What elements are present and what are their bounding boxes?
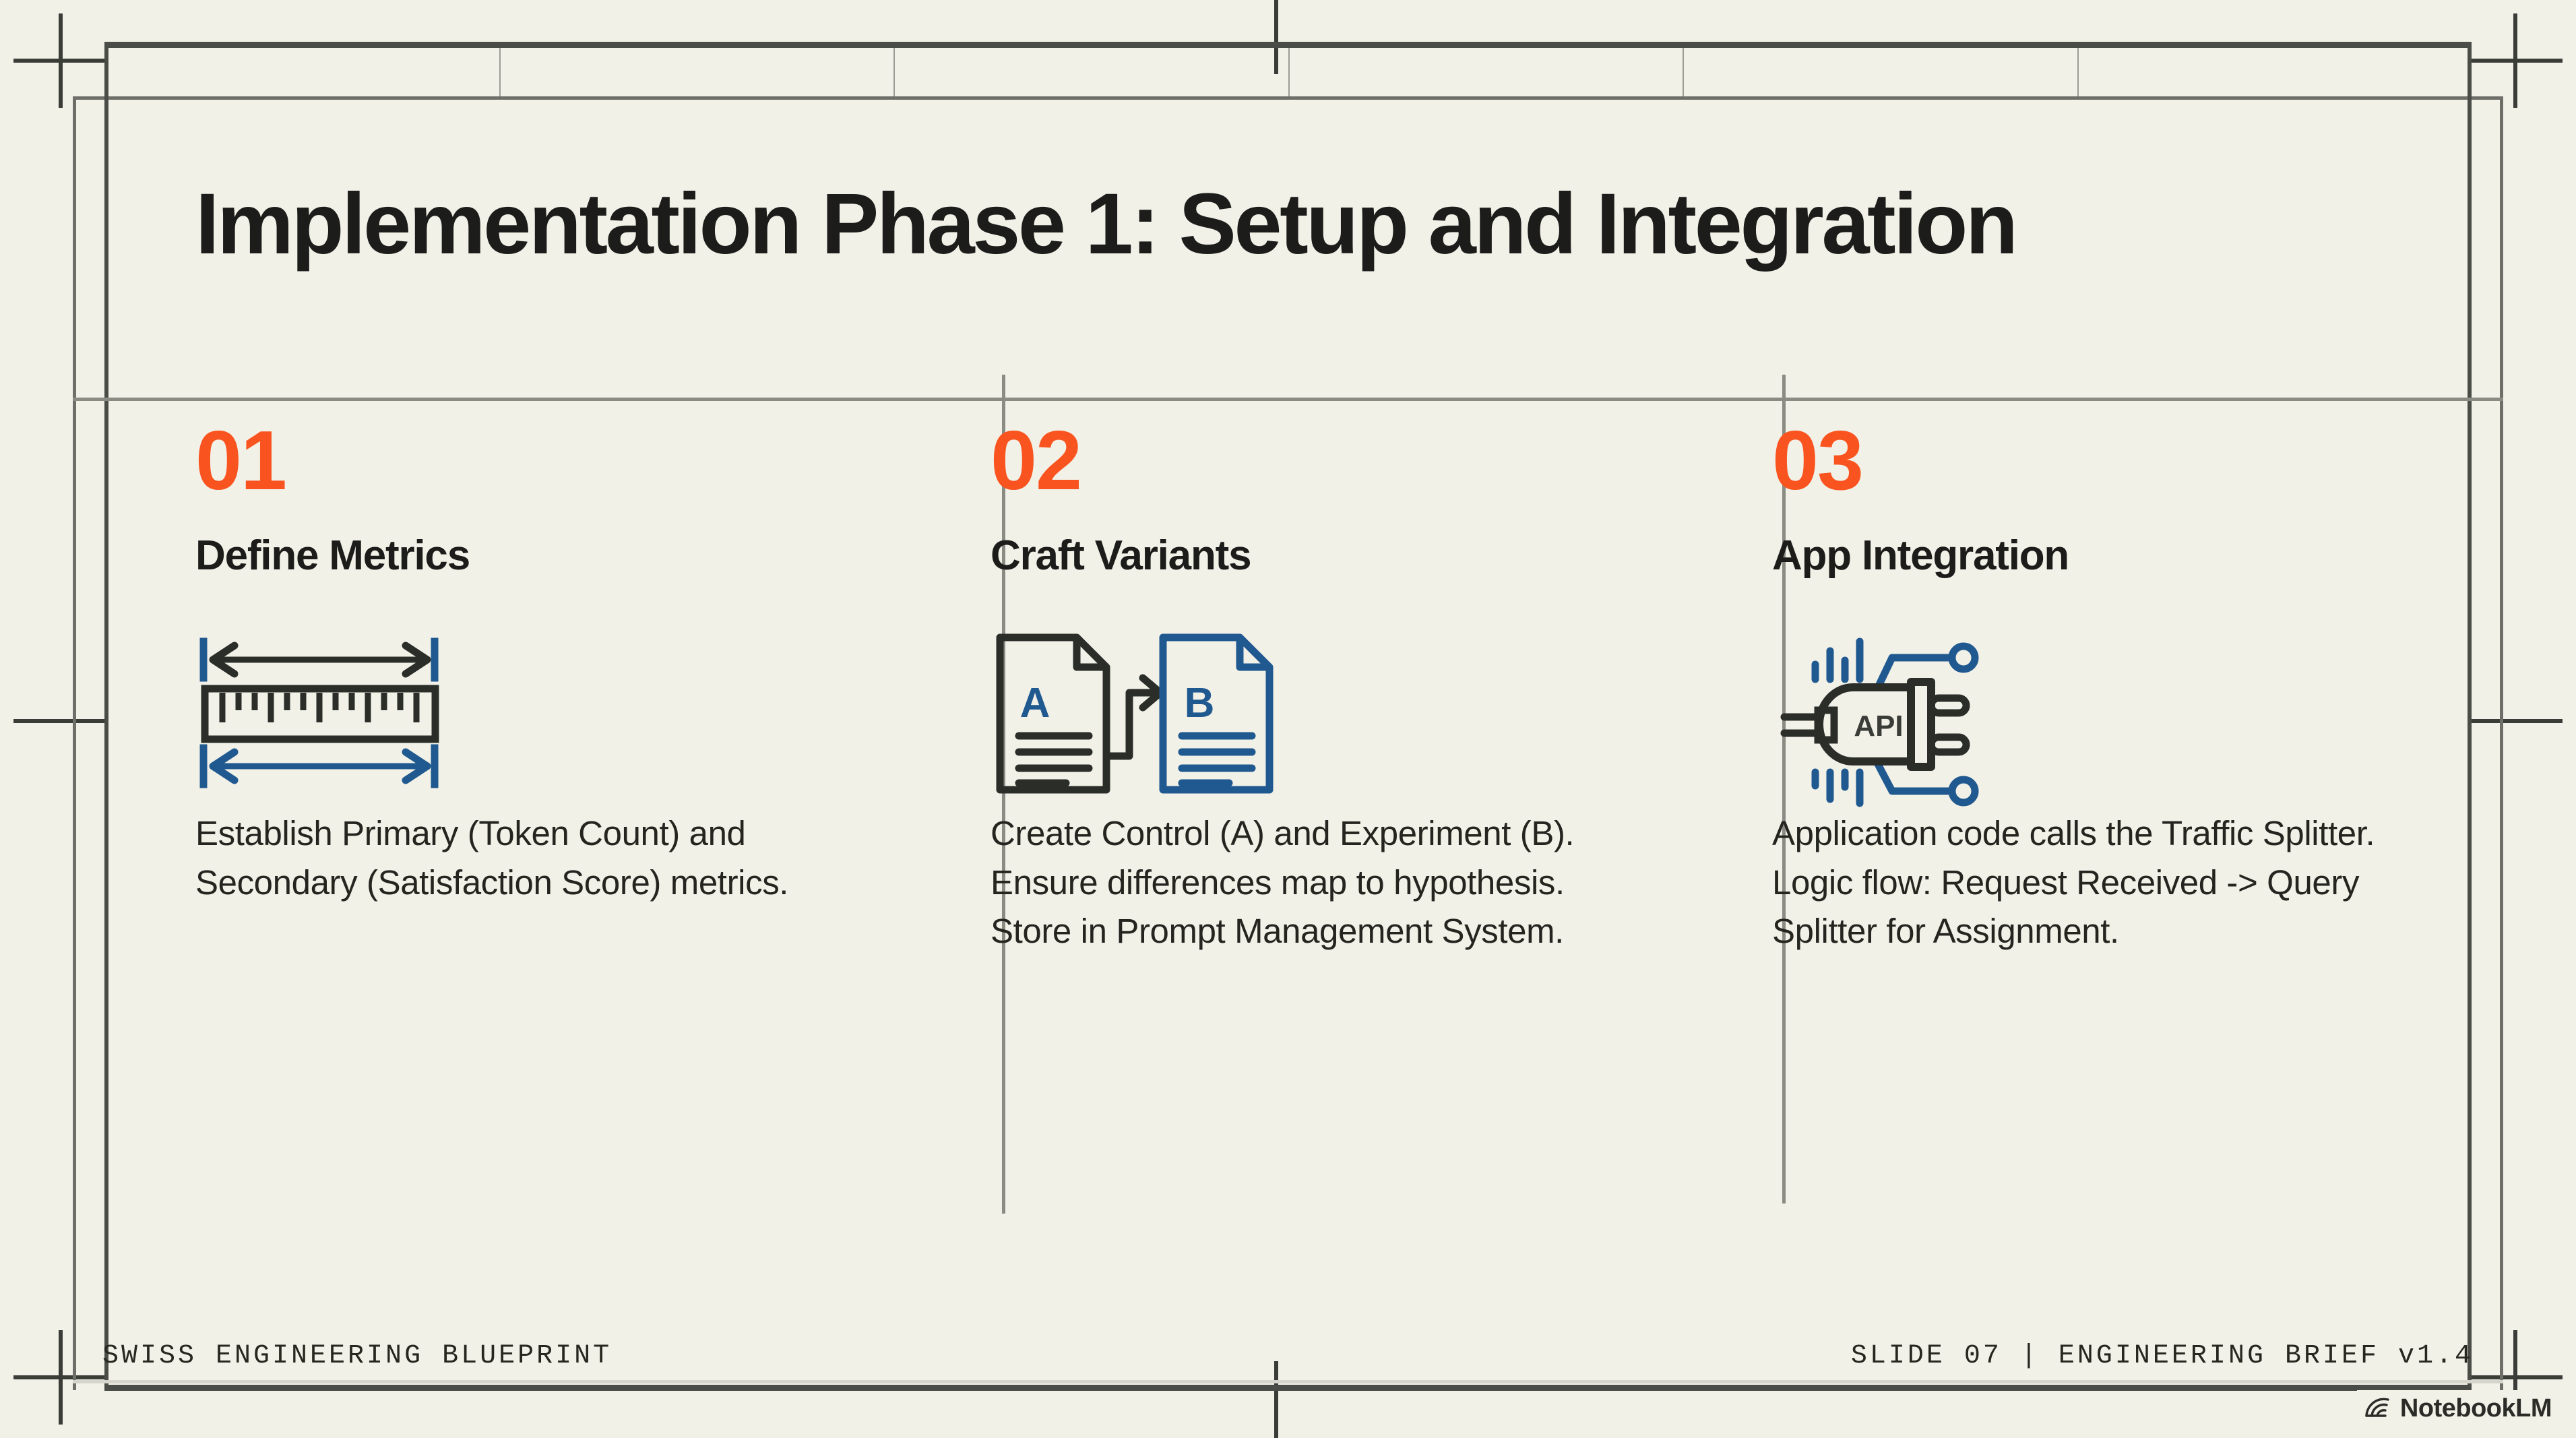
step-card-02: 02 Craft Variants A	[900, 404, 1681, 1280]
api-plug-icon: API	[1772, 616, 1988, 815]
document-a-to-b-icon: A B	[991, 629, 1287, 801]
step-number-03: 03	[1772, 419, 2431, 503]
page-title: Implementation Phase 1: Setup and Integr…	[195, 179, 2419, 270]
step-body-02: Create Control (A) and Experiment (B). E…	[991, 809, 1600, 956]
doc-b-label: B	[1185, 680, 1215, 726]
step-number-01: 01	[195, 419, 859, 503]
footer-right-label: SLIDE 07 | ENGINEERING BRIEF v1.4	[1851, 1341, 2474, 1371]
ruler-measure-icon	[195, 636, 458, 794]
notebooklm-fan-icon	[2364, 1396, 2391, 1422]
notebooklm-label: NotebookLM	[2400, 1394, 2552, 1423]
title-underline-rule	[73, 398, 2503, 401]
step-title-01: Define Metrics	[195, 534, 859, 577]
frame-rule-bottom-inner	[73, 1380, 2503, 1383]
frame-rule-bottom-outer	[104, 1385, 2472, 1391]
api-plug-label: API	[1854, 710, 1903, 743]
step-number-02: 02	[991, 419, 1641, 503]
slide-canvas: Implementation Phase 1: Setup and Integr…	[0, 0, 2576, 1438]
crop-mark-top-right	[2468, 13, 2563, 108]
step-title-03: App Integration	[1772, 534, 2431, 577]
footer-left-label: SWISS ENGINEERING BLUEPRINT	[102, 1341, 612, 1371]
step-icon-slot-03: API	[1772, 621, 2431, 809]
doc-a-label: A	[1020, 680, 1050, 726]
crop-mark-top-left	[13, 13, 108, 108]
step-body-03: Application code calls the Traffic Split…	[1772, 809, 2382, 956]
step-icon-slot-02: A B	[991, 621, 1641, 809]
notebooklm-watermark: NotebookLM	[2357, 1390, 2558, 1427]
step-card-03: 03 App Integration	[1681, 404, 2472, 1280]
step-body-01: Establish Primary (Token Count) and Seco…	[195, 809, 805, 907]
steps-container: 01 Define Metrics	[104, 404, 2472, 1280]
title-block: Implementation Phase 1: Setup and Integr…	[195, 179, 2419, 270]
step-icon-slot-01	[195, 621, 859, 809]
step-card-01: 01 Define Metrics	[104, 404, 900, 1280]
step-title-02: Craft Variants	[991, 534, 1641, 577]
